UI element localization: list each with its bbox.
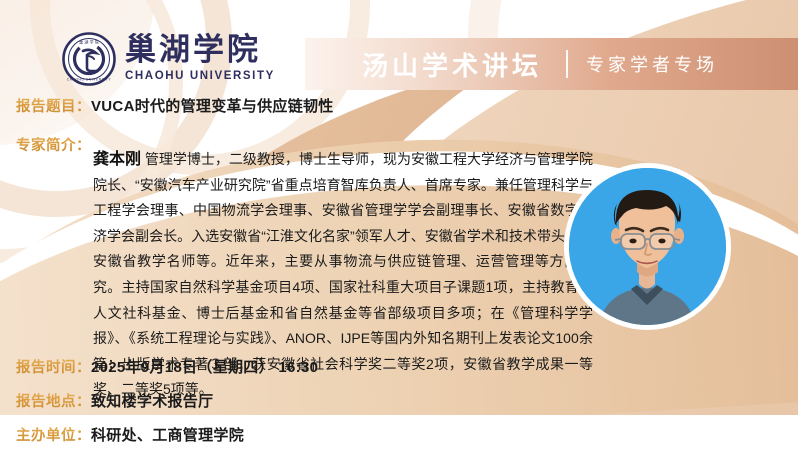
report-place-value: 致知楼学术报告厅 xyxy=(91,390,213,411)
speaker-portrait xyxy=(569,168,726,325)
report-title-label: 报告题目： xyxy=(16,95,91,116)
speaker-name: 龚本刚 xyxy=(93,151,141,168)
poster-content: 报告题目： VUCA时代的管理变革与供应链韧性 专家简介： 龚本刚 管理学博士，… xyxy=(0,0,798,449)
report-time-row: 报告时间： 2025年9月18日（星期四） 16:30 xyxy=(16,356,318,377)
report-time-label: 报告时间： xyxy=(16,356,91,377)
organizer-value: 科研处、工商管理学院 xyxy=(91,424,244,445)
report-place-label: 报告地点： xyxy=(16,390,91,411)
organizer-row: 主办单位： 科研处、工商管理学院 xyxy=(16,424,244,445)
poster-root: 巢 湖 学 院 CHAOHU UNIVERSITY 巢湖学院 CHAOHU UN… xyxy=(0,0,798,449)
speaker-intro-label: 专家简介： xyxy=(16,133,91,155)
organizer-label: 主办单位： xyxy=(16,424,91,445)
report-time-value: 2025年9月18日（星期四） 16:30 xyxy=(91,356,318,377)
report-title-value: VUCA时代的管理变革与供应链韧性 xyxy=(91,95,334,116)
report-place-row: 报告地点： 致知楼学术报告厅 xyxy=(16,390,213,411)
report-title-row: 报告题目： VUCA时代的管理变革与供应链韧性 xyxy=(16,95,334,116)
